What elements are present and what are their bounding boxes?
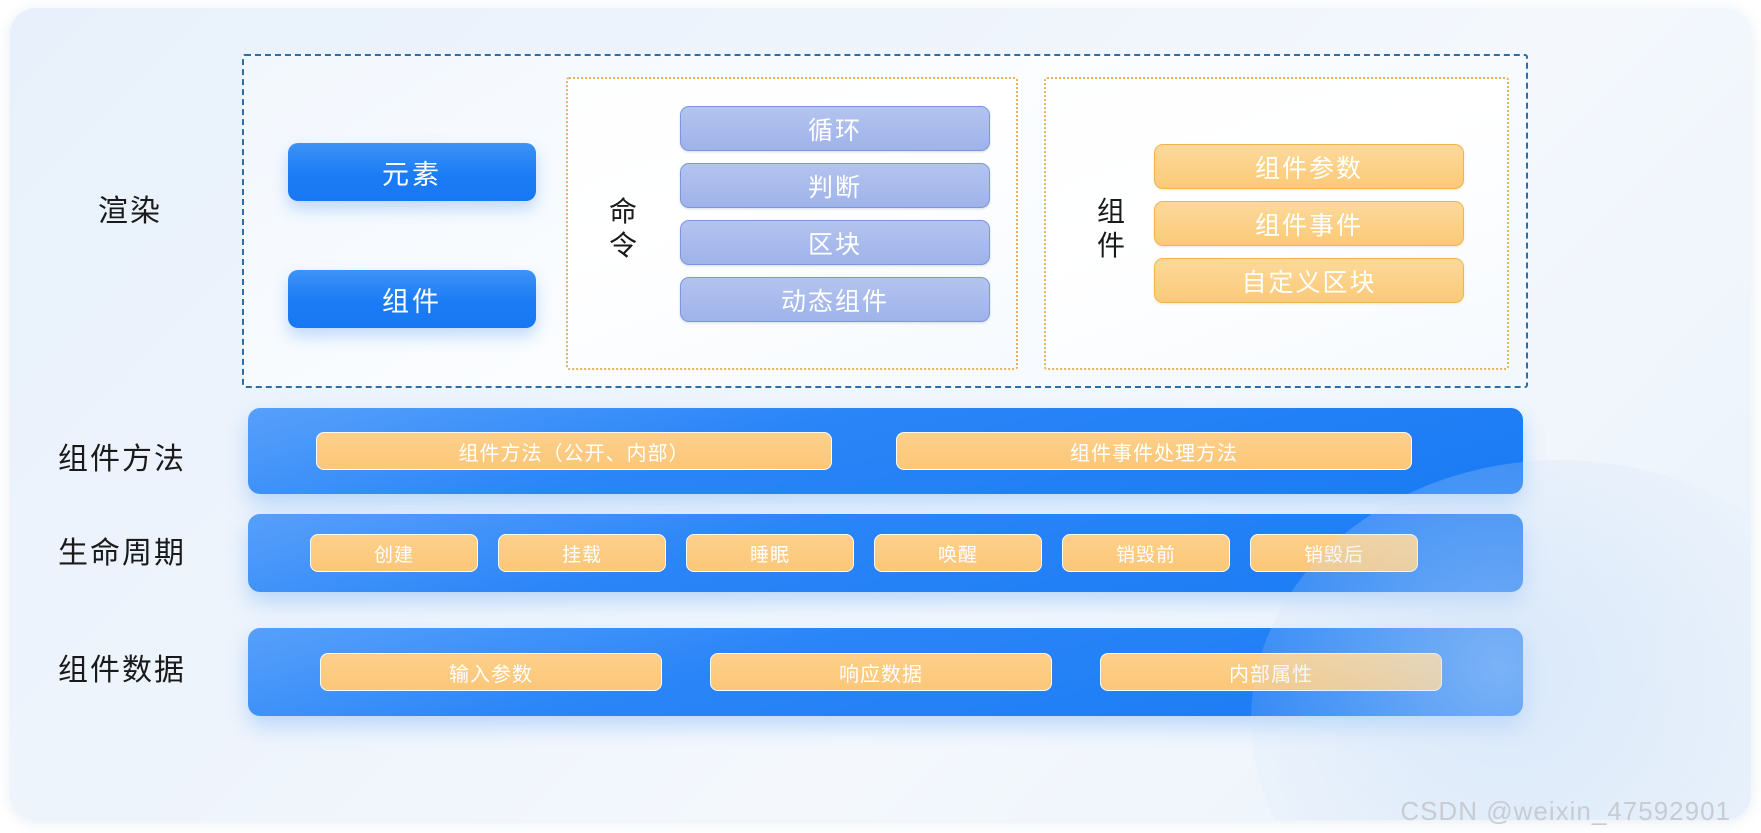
lifecycle-bar: 创建 挂载 睡眠 唤醒 销毁前 销毁后 [248, 514, 1523, 592]
methods-chip-event-handler[interactable]: 组件事件处理方法 [896, 432, 1412, 470]
command-group: 命令 循环 判断 区块 动态组件 [566, 77, 1018, 370]
data-bar: 输入参数 响应数据 内部属性 [248, 628, 1523, 716]
command-chip-dynamic-component[interactable]: 动态组件 [680, 277, 990, 322]
command-chip-list: 循环 判断 区块 动态组件 [680, 106, 990, 322]
render-section: 元素 组件 命令 循环 判断 区块 动态组件 组件 组件参数 组件事件 自定义区… [242, 54, 1528, 388]
methods-chip-public-internal[interactable]: 组件方法（公开、内部） [316, 432, 832, 470]
data-chip-input-params[interactable]: 输入参数 [320, 653, 662, 691]
render-pill-component[interactable]: 组件 [288, 270, 536, 328]
command-chip-block[interactable]: 区块 [680, 220, 990, 265]
component-group-title: 组件 [1094, 195, 1128, 263]
lifecycle-chip-wake[interactable]: 唤醒 [874, 534, 1042, 572]
row-label-lifecycle: 生命周期 [58, 528, 186, 572]
diagram-canvas: 渲染 组件方法 生命周期 组件数据 元素 组件 命令 循环 判断 区块 动态组件… [0, 0, 1761, 833]
component-chip-events[interactable]: 组件事件 [1154, 201, 1464, 246]
command-chip-loop[interactable]: 循环 [680, 106, 990, 151]
component-chip-custom-block[interactable]: 自定义区块 [1154, 258, 1464, 303]
data-chip-reactive-data[interactable]: 响应数据 [710, 653, 1052, 691]
methods-bar: 组件方法（公开、内部） 组件事件处理方法 [248, 408, 1523, 494]
lifecycle-chip-mount[interactable]: 挂载 [498, 534, 666, 572]
component-group: 组件 组件参数 组件事件 自定义区块 [1044, 77, 1509, 370]
lifecycle-chip-before-destroy[interactable]: 销毁前 [1062, 534, 1230, 572]
row-label-render: 渲染 [98, 186, 162, 230]
command-group-title: 命令 [606, 195, 640, 263]
lifecycle-chip-after-destroy[interactable]: 销毁后 [1250, 534, 1418, 572]
lifecycle-chip-sleep[interactable]: 睡眠 [686, 534, 854, 572]
data-chip-internal-attrs[interactable]: 内部属性 [1100, 653, 1442, 691]
lifecycle-chip-create[interactable]: 创建 [310, 534, 478, 572]
render-pill-element[interactable]: 元素 [288, 143, 536, 201]
component-chip-list: 组件参数 组件事件 自定义区块 [1154, 144, 1464, 303]
csdn-watermark: CSDN @weixin_47592901 [1400, 796, 1731, 827]
component-chip-props[interactable]: 组件参数 [1154, 144, 1464, 189]
row-label-methods: 组件方法 [58, 434, 186, 478]
diagram-card: 渲染 组件方法 生命周期 组件数据 元素 组件 命令 循环 判断 区块 动态组件… [10, 8, 1751, 820]
row-label-data: 组件数据 [58, 645, 186, 689]
command-chip-condition[interactable]: 判断 [680, 163, 990, 208]
